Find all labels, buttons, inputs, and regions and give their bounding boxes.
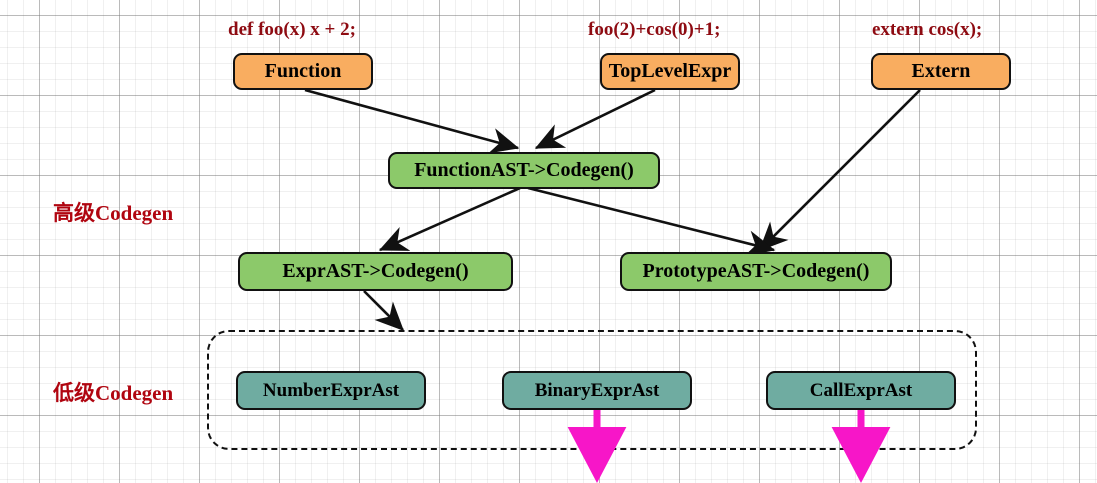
diagram-canvas: def foo(x) x + 2; foo(2)+cos(0)+1; exter… xyxy=(0,0,1097,483)
arrow-layer-magenta xyxy=(0,0,1097,483)
